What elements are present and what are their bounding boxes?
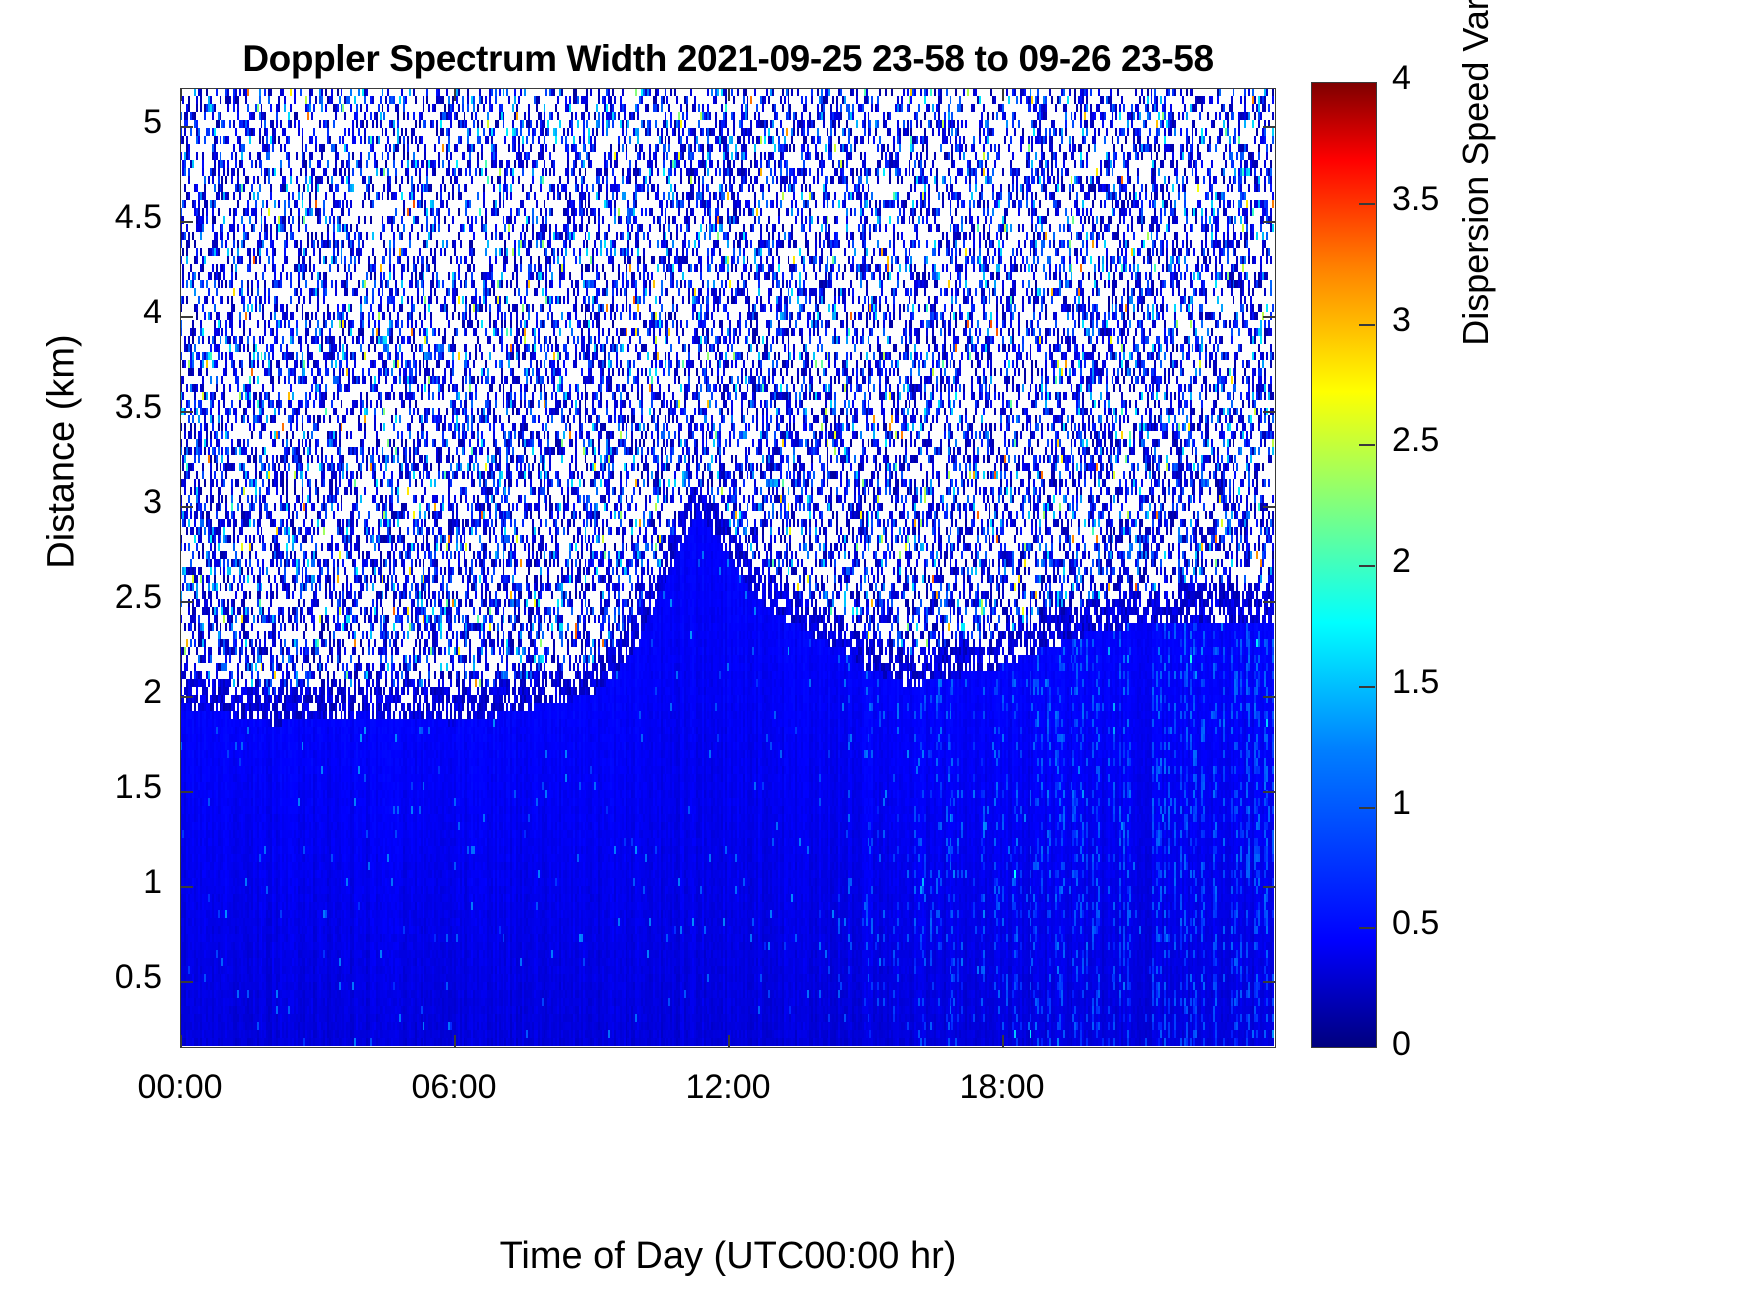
x-axis-title: Time of Day (UTC00:00 hr) [180, 1235, 1276, 1278]
y-axis-tick-mark [180, 981, 193, 983]
y-axis-tick-mark [180, 221, 193, 223]
y-axis-tick-mark [180, 696, 193, 698]
y-axis-tick-mark [180, 601, 193, 603]
page-title: Doppler Spectrum Width 2021-09-25 23-58 … [180, 38, 1276, 80]
colorbar-tick-label: 1 [1392, 784, 1411, 823]
y-axis-tick-mark [180, 886, 193, 888]
figure-canvas: Doppler Spectrum Width 2021-09-25 23-58 … [0, 0, 1750, 1313]
colorbar-title: Dispersion Speed Variance, m/s [1455, 0, 1497, 400]
colorbar-tick-mark [1359, 444, 1375, 446]
x-axis-tick-mark [180, 1035, 182, 1048]
y-axis-tick-label: 2 [10, 673, 162, 712]
y-axis-tick-mark [1263, 696, 1276, 698]
colorbar-tick-label: 1.5 [1392, 663, 1439, 702]
y-axis-title: Distance (km) [41, 272, 84, 632]
y-axis-tick-mark [1263, 791, 1276, 793]
colorbar-tick-label: 3 [1392, 301, 1411, 340]
y-axis-tick-mark [180, 791, 193, 793]
x-axis-tick-mark [728, 1035, 730, 1048]
colorbar-tick-mark [1359, 203, 1375, 205]
colorbar-tick-mark [1359, 927, 1375, 929]
colorbar-tick-label: 0.5 [1392, 904, 1439, 943]
x-axis-tick-label: 00:00 [90, 1068, 270, 1107]
y-axis-tick-label: 5 [10, 103, 162, 142]
colorbar-tick-mark [1359, 807, 1375, 809]
heatmap-image [181, 89, 1274, 1046]
x-axis-tick-label: 18:00 [912, 1068, 1092, 1107]
y-axis-tick-mark [1263, 886, 1276, 888]
x-axis-tick-mark [1002, 88, 1004, 101]
y-axis-tick-label: 1.5 [10, 768, 162, 807]
x-axis-tick-mark [1002, 1035, 1004, 1048]
y-axis-tick-label: 3 [10, 483, 162, 522]
y-axis-tick-mark [1263, 221, 1276, 223]
x-axis-tick-mark [454, 1035, 456, 1048]
y-axis-tick-mark [180, 126, 193, 128]
y-axis-tick-label: 1 [10, 863, 162, 902]
colorbar-tick-mark [1359, 565, 1375, 567]
colorbar-tick-label: 2 [1392, 542, 1411, 581]
colorbar-tick-mark [1359, 686, 1375, 688]
x-axis-tick-mark [728, 88, 730, 101]
x-axis-tick-mark [454, 88, 456, 101]
colorbar-tick-mark [1359, 324, 1375, 326]
x-axis-tick-label: 06:00 [364, 1068, 544, 1107]
y-axis-tick-mark [1263, 981, 1276, 983]
y-axis-tick-label: 0.5 [10, 958, 162, 997]
y-axis-tick-mark [1263, 506, 1276, 508]
y-axis-tick-mark [180, 316, 193, 318]
x-axis-tick-label: 12:00 [638, 1068, 818, 1107]
y-axis-tick-mark [1263, 316, 1276, 318]
y-axis-tick-mark [180, 506, 193, 508]
y-axis-tick-mark [1263, 601, 1276, 603]
y-axis-tick-mark [1263, 126, 1276, 128]
colorbar-tick-label: 3.5 [1392, 180, 1439, 219]
y-axis-tick-mark [180, 411, 193, 413]
y-axis-tick-label: 4 [10, 293, 162, 332]
colorbar-tick-label: 2.5 [1392, 421, 1439, 460]
y-axis-tick-label: 4.5 [10, 198, 162, 237]
y-axis-tick-mark [1263, 411, 1276, 413]
x-axis-tick-mark [180, 88, 182, 101]
heatmap-axes [180, 88, 1276, 1048]
y-axis-tick-label: 3.5 [10, 388, 162, 427]
colorbar-tick-label: 4 [1392, 59, 1411, 98]
y-axis-tick-label: 2.5 [10, 578, 162, 617]
colorbar-tick-label: 0 [1392, 1025, 1411, 1064]
